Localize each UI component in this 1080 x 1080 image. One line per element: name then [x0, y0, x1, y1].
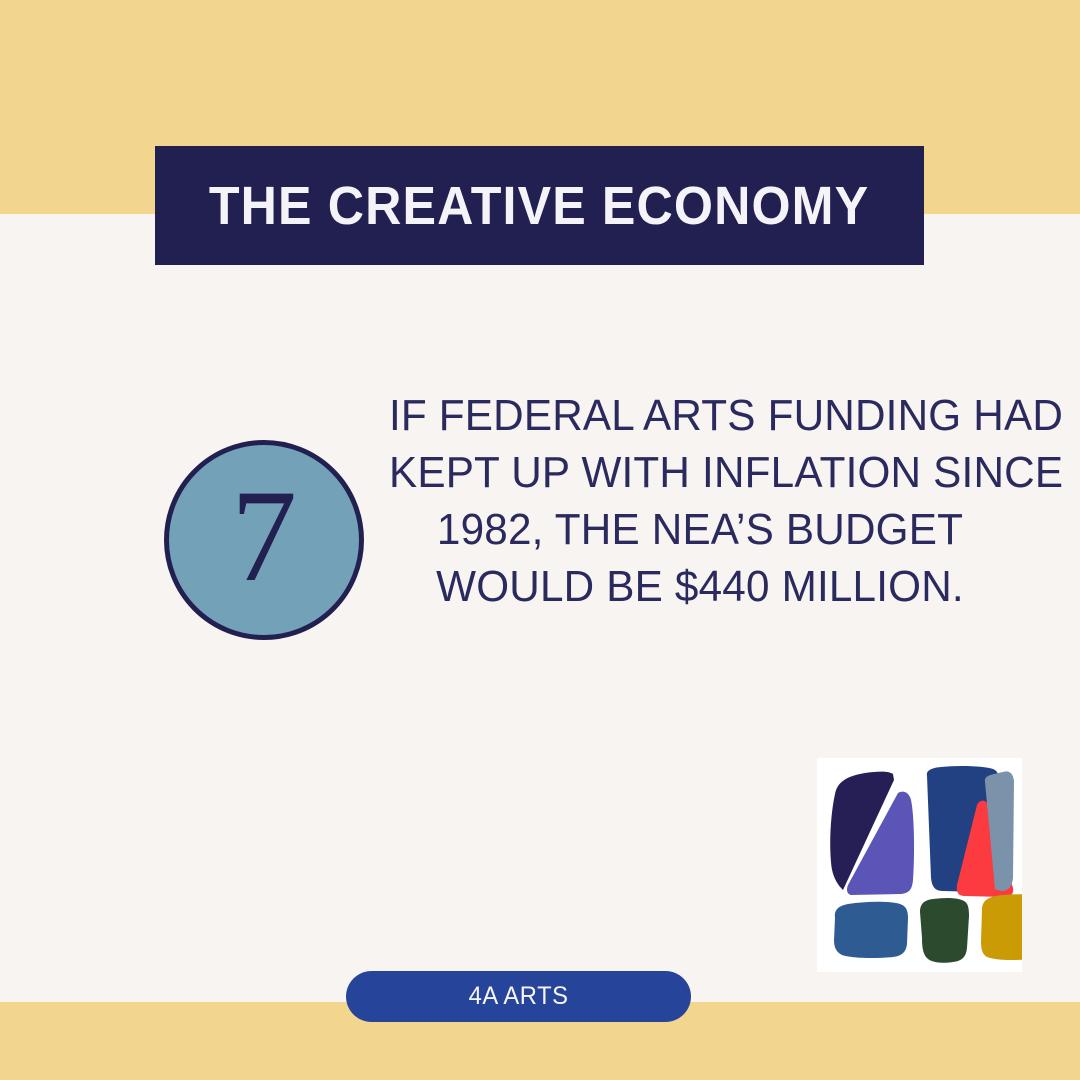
item-number-badge: 7 — [164, 440, 364, 640]
statement-line-1: IF FEDERAL ARTS FUNDING HAD — [389, 387, 1011, 444]
item-number-value: 7 — [231, 470, 297, 602]
infographic-canvas: THE CREATIVE ECONOMY 7 IF FEDERAL ARTS F… — [0, 0, 1080, 1080]
logo-panel — [817, 758, 1022, 972]
4a-arts-logo — [817, 758, 1022, 972]
logo-shape-steel-blue — [834, 902, 908, 958]
page-title: THE CREATIVE ECONOMY — [209, 179, 869, 233]
statement-text: IF FEDERAL ARTS FUNDING HAD KEPT UP WITH… — [389, 387, 1011, 615]
statement-line-3: 1982, THE NEA’S BUDGET — [389, 501, 1011, 558]
statement-line-4: WOULD BE $440 MILLION. — [389, 558, 1011, 615]
title-banner: THE CREATIVE ECONOMY — [155, 146, 924, 265]
logo-shape-gold — [981, 894, 1022, 960]
statement-line-2: KEPT UP WITH INFLATION SINCE — [389, 444, 1011, 501]
brand-label: 4A ARTS — [469, 982, 569, 1011]
logo-shape-green — [920, 898, 969, 963]
brand-footer-pill[interactable]: 4A ARTS — [346, 971, 691, 1022]
